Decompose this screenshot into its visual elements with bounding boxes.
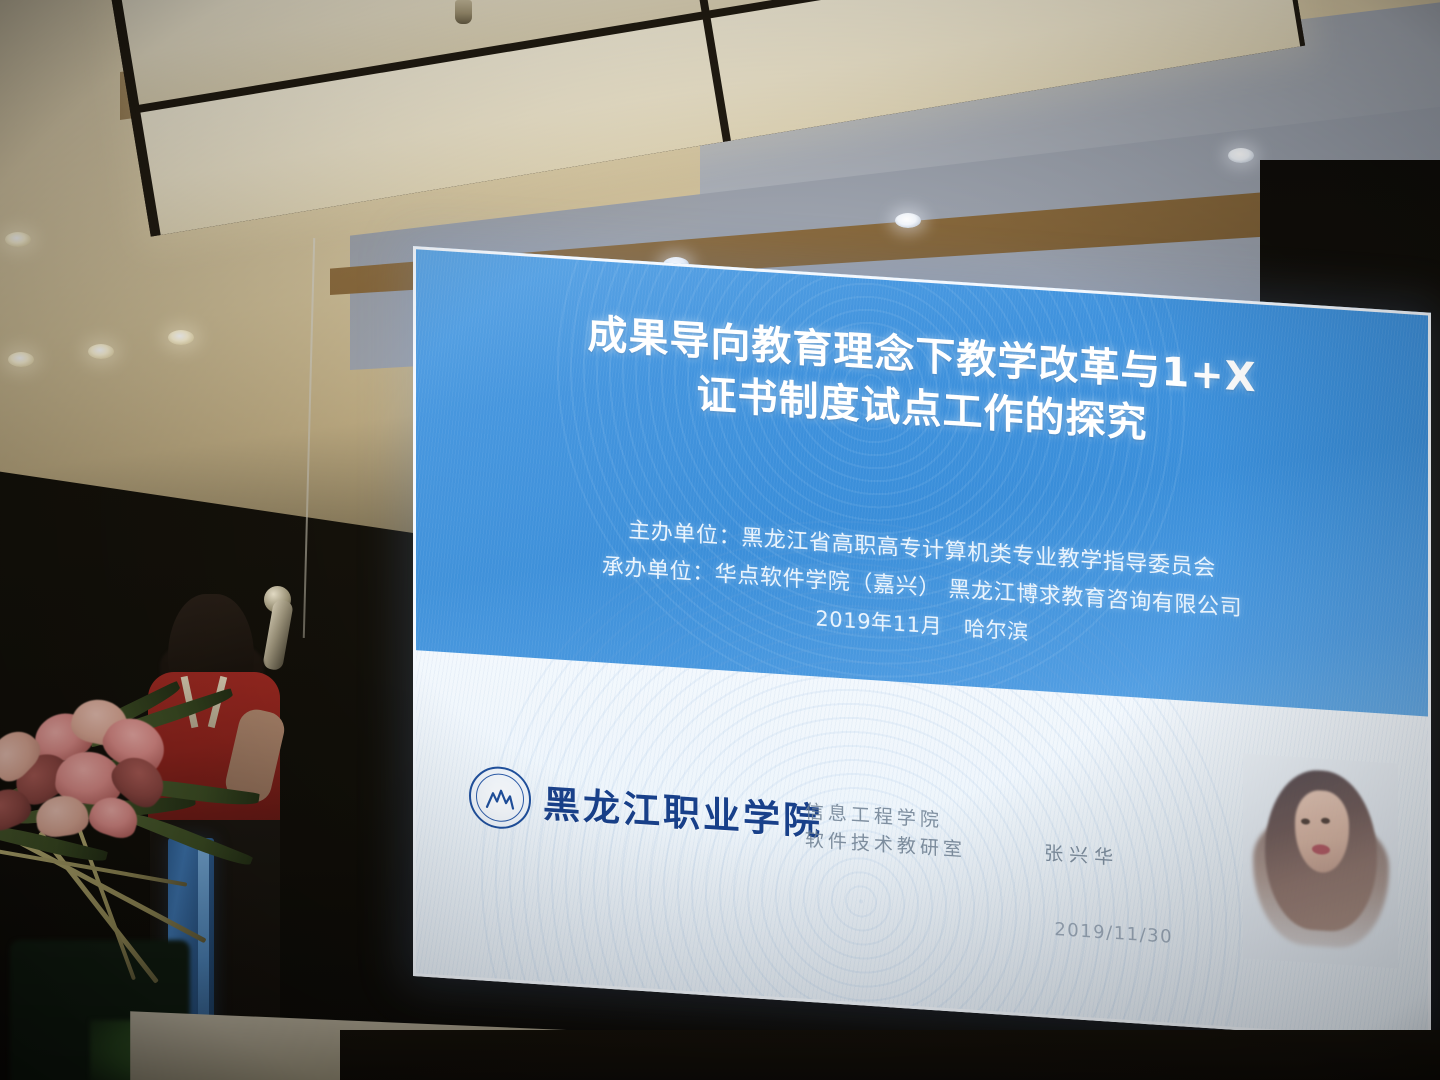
recessed-spotlight <box>8 352 34 367</box>
projection-screen[interactable]: 成果导向教育理念下教学改革与1+X 证书制度试点工作的探究 主办单位：黑龙江省高… <box>413 246 1431 1043</box>
recessed-spotlight <box>5 232 31 247</box>
recessed-spotlight <box>88 344 114 359</box>
presentation-photo-scene: 成果导向教育理念下教学改革与1+X 证书制度试点工作的探究 主办单位：黑龙江省高… <box>0 0 1440 1080</box>
foliage-leaf <box>127 809 253 871</box>
recessed-spotlight <box>168 330 194 345</box>
fire-sprinkler-icon <box>455 0 472 24</box>
floral-arrangement <box>0 690 280 950</box>
floor-foreground <box>340 1030 1440 1080</box>
screen-border <box>413 246 1431 1043</box>
recessed-spotlight <box>895 213 921 228</box>
recessed-spotlight <box>1228 148 1254 163</box>
